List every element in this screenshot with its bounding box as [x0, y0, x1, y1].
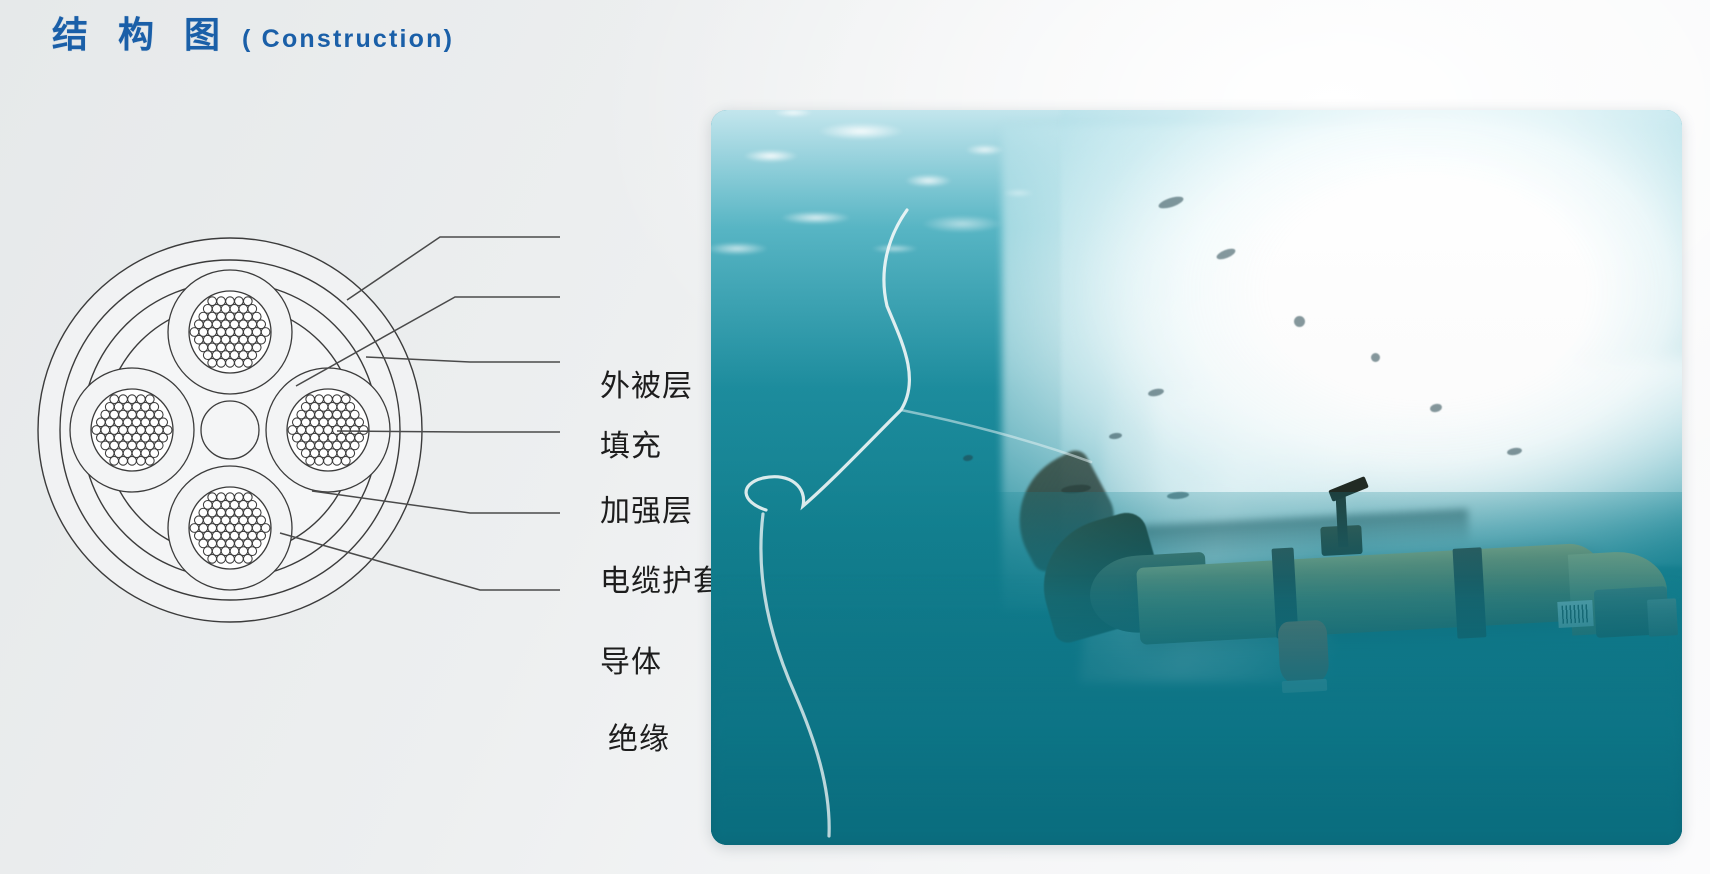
label-insulation: 绝缘: [608, 725, 670, 755]
leader-outer-sheath: [347, 237, 560, 300]
center-filler: [201, 401, 259, 459]
leader-cable-jacket: [337, 431, 560, 432]
core-west: [70, 368, 194, 492]
page-title: 结 构 图 ( Construction): [52, 17, 454, 53]
label-conductor: 导体: [600, 648, 662, 678]
cable-cross-section-diagram: 外被层 填充 加强层 电缆护套 导体 绝缘: [0, 150, 740, 710]
label-strength-member: 加强层: [600, 497, 693, 527]
core-south: [168, 466, 292, 590]
photo-canvas: [711, 110, 1682, 845]
label-cable-jacket: 电缆护套: [600, 567, 724, 597]
core-east: [266, 368, 390, 492]
underwater-auv-photo: [711, 110, 1682, 845]
tether-cable: [711, 110, 1682, 845]
label-outer-sheath: 外被层: [600, 372, 693, 402]
core-north: [168, 270, 292, 394]
page-title-en: ( Construction): [242, 27, 454, 52]
label-filler: 填充: [600, 432, 662, 462]
page-title-cn: 结 构 图: [52, 17, 230, 53]
